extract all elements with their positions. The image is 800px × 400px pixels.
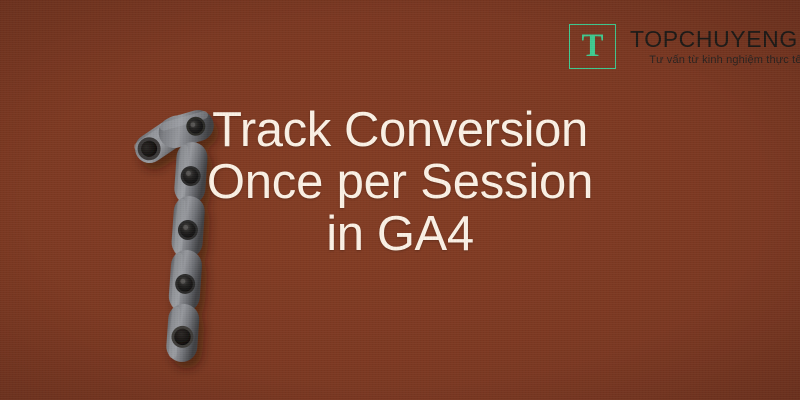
logo-letter-t: T <box>581 30 603 63</box>
headline-line-1: Track Conversion <box>120 104 680 156</box>
headline-line-2: Once per Session <box>120 156 680 208</box>
banner-canvas: Track Conversion Once per Session in GA4… <box>0 0 800 400</box>
headline-line-3: in GA4 <box>120 208 680 260</box>
headline: Track Conversion Once per Session in GA4 <box>120 104 680 260</box>
brand-name: TOPCHUYENGIA <box>630 27 800 52</box>
brand-tagline: Tư vấn từ kinh nghiệm thực tế <box>630 54 800 67</box>
logo-text-block: TOPCHUYENGIA Tư vấn từ kinh nghiệm thực … <box>630 27 800 67</box>
logo-mark-square: T <box>569 24 616 69</box>
brand-logo-lockup[interactable]: T TOPCHUYENGIA Tư vấn từ kinh nghiệm thự… <box>569 24 800 69</box>
